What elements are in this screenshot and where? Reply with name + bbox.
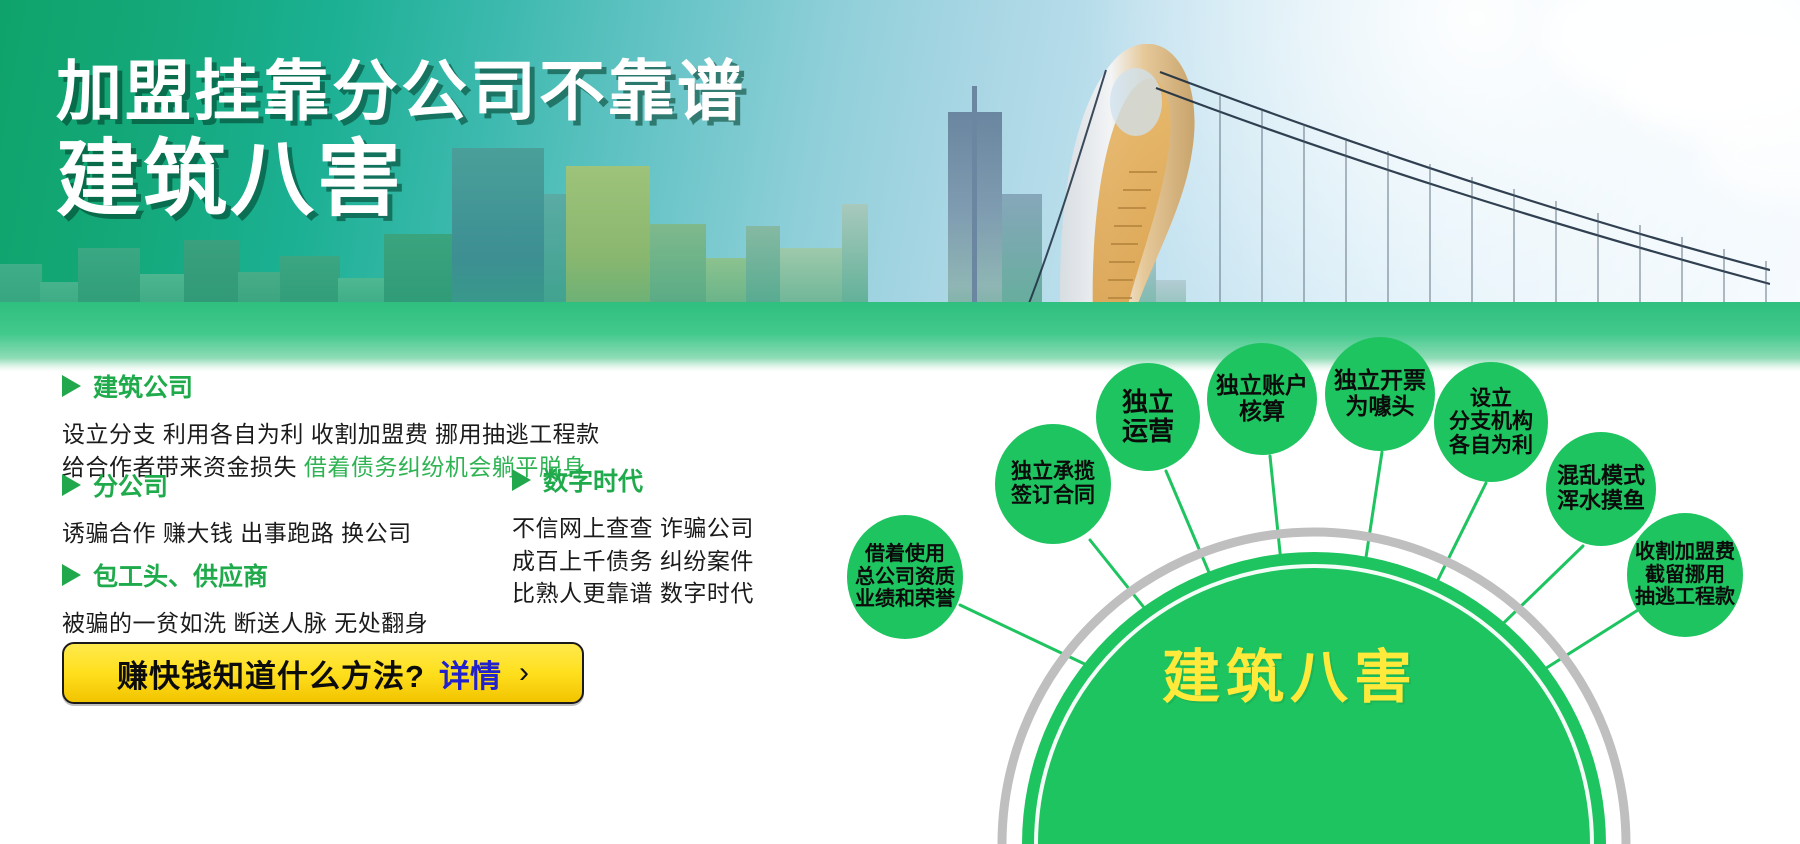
cta-detail-link[interactable]: 详情 <box>439 651 501 696</box>
bubble-setup-branches[interactable]: 设立 分支机构 各自为利 <box>1434 362 1548 482</box>
poster-root: 加盟挂靠分公司不靠谱 建筑八害 建筑公司 设立分支 利用各自为利 收割加盟费 挪… <box>0 0 1800 844</box>
bubble-line: 设立 <box>1470 387 1512 411</box>
section-body-line: 成百上千债务 纠纷案件 <box>512 545 754 578</box>
section-title: 建筑公司 <box>93 368 193 404</box>
bubble-line: 业绩和荣誉 <box>855 588 955 610</box>
bubble-chaotic-mode[interactable]: 混乱模式 浑水摸鱼 <box>1546 432 1656 546</box>
section-title-row: 包工头、供应商 <box>62 557 428 593</box>
bridge-pylon <box>1010 44 1770 344</box>
section-body-line: 设立分支 利用各自为利 收割加盟费 挪用抽逃工程款 <box>62 418 600 451</box>
dome-label: 建筑八害 <box>1162 630 1418 714</box>
bubble-line: 总公司资质 <box>855 566 955 588</box>
bubble-independent-account[interactable]: 独立账户 核算 <box>1207 343 1317 455</box>
bubble-line: 独立承揽 <box>1011 460 1095 484</box>
section-title-row: 分公司 <box>62 467 412 503</box>
section-body-line: 被骗的一贫如洗 断送人脉 无处翻身 <box>62 607 428 640</box>
bubble-independent-operation[interactable]: 独立 运营 <box>1096 363 1200 471</box>
bubble-independent-contracting[interactable]: 独立承揽 签订合同 <box>995 424 1111 544</box>
bubble-line: 抽逃工程款 <box>1635 586 1735 608</box>
bubble-line: 独立开票 <box>1334 368 1426 394</box>
headline-line-2: 建筑八害 <box>56 137 746 223</box>
bubble-independent-invoicing[interactable]: 独立开票 为噱头 <box>1325 337 1435 451</box>
section-title-row: 建筑公司 <box>62 368 600 404</box>
body-text: 设立分支 利用各自为利 收割加盟费 挪用抽逃工程款 <box>62 421 600 447</box>
hero-banner: 加盟挂靠分公司不靠谱 建筑八害 <box>0 0 1800 372</box>
bubble-line: 为噱头 <box>1346 394 1415 420</box>
bubble-line: 收割加盟费 <box>1635 541 1735 563</box>
cta-button[interactable]: 赚快钱知道什么方法? 详情 › <box>62 642 584 704</box>
triangle-bullet-icon <box>62 564 81 586</box>
bubble-line: 签订合同 <box>1011 484 1095 508</box>
bubble-line: 借着使用 <box>865 543 945 565</box>
section-title: 包工头、供应商 <box>93 557 268 593</box>
chevron-right-icon: › <box>519 656 529 690</box>
bubble-line: 分支机构 <box>1449 410 1533 434</box>
section-title: 数字时代 <box>543 462 643 498</box>
triangle-bullet-icon <box>512 469 531 491</box>
diagram-panel: 借着使用 总公司资质 业绩和荣誉 独立承揽 签订合同 独立 运营 独立账户 核算… <box>810 372 1800 844</box>
triangle-bullet-icon <box>62 375 81 397</box>
headline-line-1: 加盟挂靠分公司不靠谱 <box>56 58 746 125</box>
section-body-line: 诱骗合作 赚大钱 出事跑路 换公司 <box>62 517 412 550</box>
section-contractor-supplier: 包工头、供应商 被骗的一贫如洗 断送人脉 无处翻身 <box>62 557 428 640</box>
bubble-line: 独立 <box>1122 388 1174 417</box>
bubble-line: 核算 <box>1239 399 1285 425</box>
bubble-line: 截留挪用 <box>1645 564 1725 586</box>
bubble-line: 运营 <box>1122 417 1174 446</box>
section-branch-company: 分公司 诱骗合作 赚大钱 出事跑路 换公司 <box>62 467 412 550</box>
bubble-borrow-qualification[interactable]: 借着使用 总公司资质 业绩和荣誉 <box>847 515 963 639</box>
section-digital-era: 数字时代 不信网上查查 诈骗公司 成百上千债务 纠纷案件 比熟人更靠谱 数字时代 <box>512 462 754 610</box>
section-body-line: 比熟人更靠谱 数字时代 <box>512 577 754 610</box>
bubble-line: 混乱模式 <box>1557 464 1645 489</box>
section-body-line: 不信网上查查 诈骗公司 <box>512 512 754 545</box>
headline-group: 加盟挂靠分公司不靠谱 建筑八害 <box>56 58 746 223</box>
section-title-row: 数字时代 <box>512 462 754 498</box>
bubble-line: 浑水摸鱼 <box>1557 489 1645 514</box>
cta-main-label: 赚快钱知道什么方法? <box>117 651 425 696</box>
bubble-line: 独立账户 <box>1216 373 1308 399</box>
bubble-harvest-franchise-fee[interactable]: 收割加盟费 截留挪用 抽逃工程款 <box>1627 513 1743 637</box>
triangle-bullet-icon <box>62 474 81 496</box>
left-content-panel: 建筑公司 设立分支 利用各自为利 收割加盟费 挪用抽逃工程款 给合作者带来资金损… <box>0 372 810 844</box>
section-title: 分公司 <box>93 467 168 503</box>
bubble-line: 各自为利 <box>1449 434 1533 458</box>
